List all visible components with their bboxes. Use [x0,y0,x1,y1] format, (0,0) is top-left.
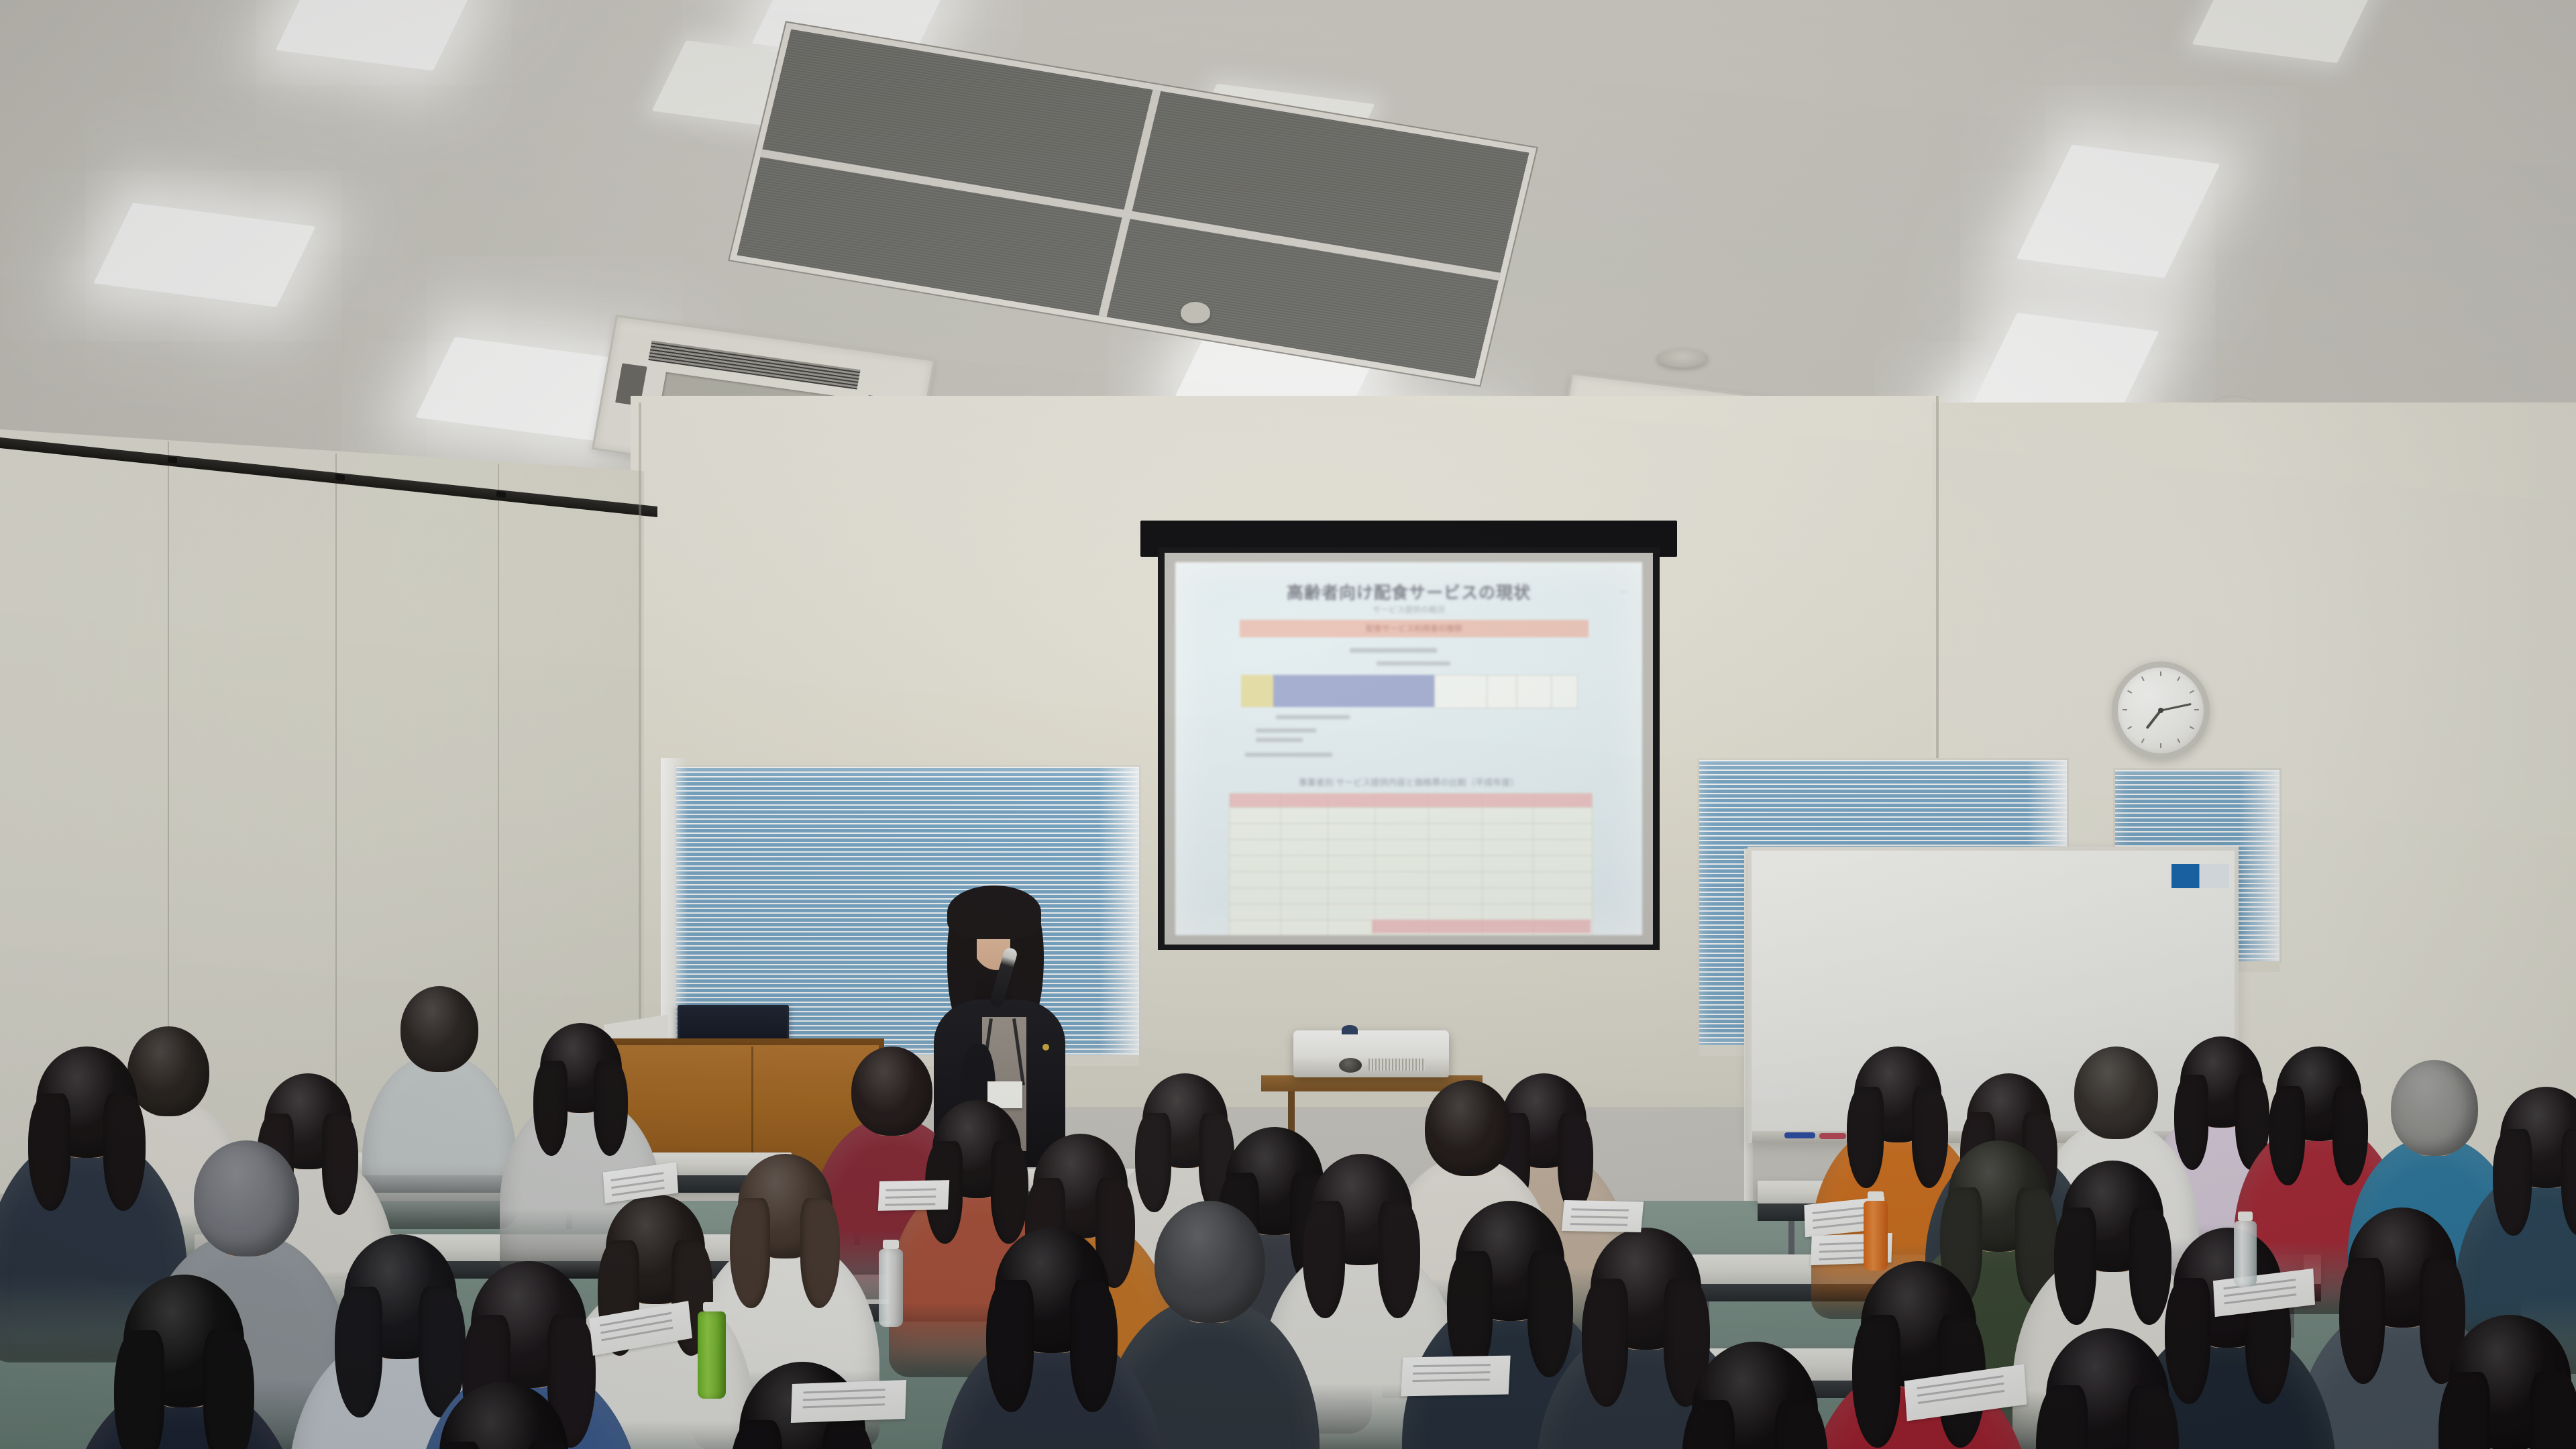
attendee-38 [1630,1342,1880,1449]
attendee-hair-left [986,1280,1034,1411]
handout-paper-8[interactable] [791,1380,906,1423]
attendee-40 [376,1382,632,1449]
clock-minute-hand [2161,703,2192,711]
clock-tick-2 [2190,690,2194,694]
bottle-cap-icon [1868,1191,1883,1201]
bottle-cap-icon [703,1302,721,1311]
ceiling-speaker-icon [1657,349,1708,368]
paper-text-line [600,1320,672,1334]
paper-text-line [886,1188,936,1191]
attendee-hair-left [28,1093,70,1211]
attendee-17 [939,1228,1165,1449]
slide-stacked-bar [1241,675,1576,707]
attendee-hair-left [729,1420,782,1449]
paper-text-line [1412,1379,1490,1382]
clock-tick-7 [2141,739,2145,743]
paper-text-line [1813,1206,1870,1214]
attendee-hair-right [203,1330,254,1449]
paper-text-line [1570,1216,1627,1218]
clock-center-pin [2158,708,2163,713]
projector-vent-icon [1368,1059,1425,1071]
paper-text-line [612,1187,665,1196]
paper-text-line [1413,1364,1491,1367]
attendee-head [439,1382,569,1449]
attendee-hair-right [2127,1385,2179,1449]
clock-tick-0 [2160,672,2161,676]
desk-leg-0 [1788,1221,1794,1257]
attendee-head [194,1140,299,1256]
paper-text-line [1571,1208,1628,1211]
paper-text-line [601,1327,673,1342]
projector-lens-icon [1339,1058,1362,1073]
orange-juice-bottle[interactable] [1864,1201,1888,1271]
attendee-hair-right [1775,1400,1828,1449]
paper-text-line [885,1203,936,1205]
green-tea-bottle[interactable] [698,1311,726,1399]
attendee-hair-left [2036,1385,2088,1449]
water-bottle[interactable] [879,1249,903,1327]
clock-tick-5 [2177,739,2180,743]
paper-text-line [1570,1223,1627,1226]
paper-text-line [1413,1371,1491,1375]
paper-text-line [885,1195,936,1198]
clock-tick-9 [2123,709,2127,710]
wall-clock [2112,661,2210,759]
projection-screen: 高齢者向け配食サービスの現状 ― サービス提供の概況 配食サービス利用者の推移 [1140,521,1677,953]
clock-tick-10 [2127,690,2132,694]
whiteboard-blue-sticker-icon [2171,864,2229,888]
attendee-hair-left [2339,1258,2385,1384]
bottle-cap-icon [2238,1212,2253,1221]
attendee-hair-left [429,1442,483,1449]
bottle-cap-icon [883,1240,898,1249]
attendee-hair-left [1682,1400,1735,1449]
attendee-hair-left [533,1061,568,1155]
clock-tick-4 [2190,726,2194,729]
slide-surface: 高齢者向け配食サービスの現状 ― サービス提供の概況 配食サービス利用者の推移 [1175,562,1642,935]
attendee-head [1155,1201,1265,1323]
slide-section-caption: 事業者別 サービス提供内容と価格帯の比較（平成年度） [1175,775,1642,788]
attendee-hair-right [525,1442,579,1449]
attendee-7 [64,1275,304,1449]
slide-page-marker: ― [1620,588,1627,596]
attendee-hair-left [1847,1087,1884,1188]
handout-paper-2[interactable] [878,1180,950,1211]
paper-text-line [803,1403,885,1408]
water-bottle-right[interactable] [2234,1221,2257,1287]
attendee-hair-right [2530,1372,2576,1449]
lapel-pin-icon [1042,1044,1049,1051]
clock-tick-1 [2177,676,2180,681]
slide-table-header-row [1230,794,1592,807]
paper-text-line [1813,1214,1870,1222]
attendee-hair-left [1582,1279,1628,1407]
paper-text-line [1917,1375,2003,1389]
clock-tick-3 [2194,709,2199,710]
handout-paper-4[interactable] [1562,1200,1644,1232]
presenter-fringe [947,885,1041,939]
seminar-room-photo: 高齢者向け配食サービスの現状 ― サービス提供の概況 配食サービス利用者の推移 [0,0,2576,1449]
paper-text-line [803,1389,885,1393]
attendee-hair-left [2054,1207,2096,1325]
paper-text-line [1813,1221,1870,1229]
attendee-hair-left [2269,1086,2305,1185]
ceiling-sensor-icon [1181,302,1210,323]
clock-tick-6 [2160,743,2161,748]
slide-table [1229,793,1593,935]
clock-tick-11 [2141,676,2145,681]
attendee-hair-left [114,1330,165,1449]
handout-paper-6[interactable] [1401,1356,1510,1397]
clock-tick-8 [2127,726,2132,729]
attendee-37 [2388,1315,2576,1449]
attendee-hair-right [822,1420,875,1449]
slide-banner-label: 配食サービス利用者の推移 [1240,623,1589,634]
paper-text-line [600,1312,672,1327]
slide-subtitle: サービス提供の概況 [1175,604,1642,615]
attendee-hair-left [2438,1372,2490,1449]
slide-table-highlight-cell [1372,920,1591,933]
projector-focus-knob-icon[interactable] [1342,1025,1358,1034]
attendee-head [400,986,478,1072]
slide-title: 高齢者向け配食サービスの現状 [1175,580,1642,604]
paper-text-line [803,1396,885,1401]
